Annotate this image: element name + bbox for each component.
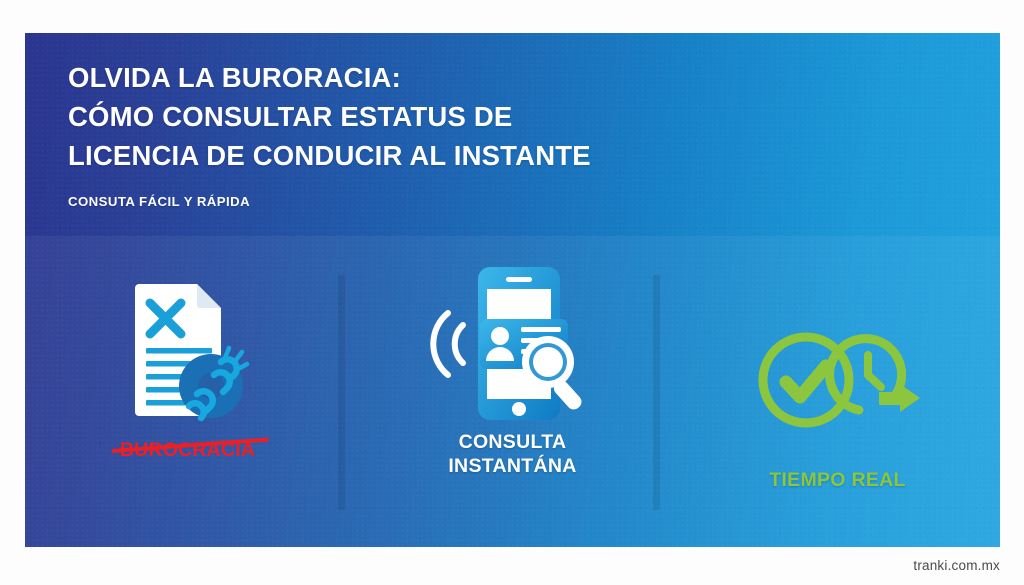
- check-clock-arrow-icon: [755, 306, 920, 456]
- title-line-3: LICENCIA DE CONDUCIR AL INSTANTE: [68, 136, 768, 175]
- feature-column-instant-query: CONSULTA INSTANTÁNA: [350, 268, 675, 547]
- header-block: OLVIDA LA BURORACIA: CÓMO CONSULTAR ESTA…: [68, 58, 768, 209]
- watermark-url: tranki.com.mx: [913, 558, 1000, 573]
- feature-label-line-1: CONSULTA: [459, 431, 567, 453]
- feature-label-real-time: TIEMPO REAL: [769, 468, 906, 492]
- feature-label-instant-query: CONSULTA INSTANTÁNA: [448, 430, 576, 479]
- document-broken-chain-icon: [113, 276, 263, 426]
- banner-panel: OLVIDA LA BURORACIA: CÓMO CONSULTAR ESTA…: [25, 33, 1000, 547]
- infographic-canvas: OLVIDA LA BURORACIA: CÓMO CONSULTAR ESTA…: [0, 0, 1024, 585]
- feature-column-bureaucracy: BUROCRACIA: [25, 268, 350, 547]
- title-line-1: OLVIDA LA BURORACIA:: [68, 58, 768, 97]
- feature-column-real-time: TIEMPO REAL: [675, 268, 1000, 547]
- title-line-2: CÓMO CONSULTAR ESTATUS DE: [68, 97, 768, 136]
- features-row: BUROCRACIA: [25, 268, 1000, 547]
- struck-label-wrapper: BUROCRACIA: [120, 438, 255, 462]
- smartphone-id-search-icon: [420, 268, 605, 418]
- subtitle: CONSUTA FÁCIL Y RÁPIDA: [68, 194, 768, 209]
- feature-label-bureaucracy: BUROCRACIA: [120, 438, 255, 462]
- feature-label-line-2: INSTANTÁNA: [448, 455, 576, 477]
